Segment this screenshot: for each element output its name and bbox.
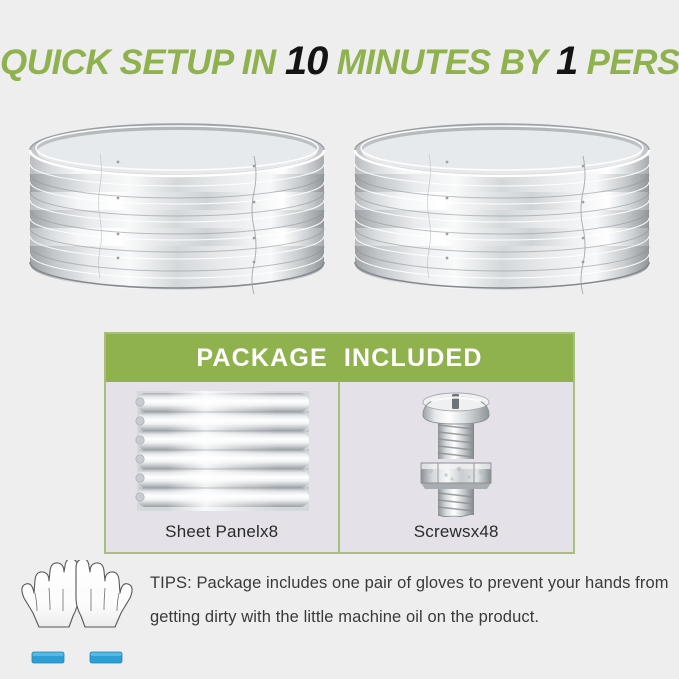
banner-word-included: INCLUDED (344, 344, 483, 373)
headline-part-3: PERSON (587, 43, 679, 82)
screw-image (340, 382, 574, 520)
sheet-panel-label: Sheet Panelx8 (165, 520, 278, 546)
raised-garden-bed-image-left (22, 112, 332, 312)
work-gloves-icon (14, 560, 140, 668)
package-included-box: PACKAGE INCLUDED (104, 332, 575, 554)
screw-with-nut-icon (401, 385, 511, 517)
headline-part-2: MINUTES BY (337, 43, 547, 82)
headline-number-person: 1 (556, 39, 577, 83)
package-included-banner: PACKAGE INCLUDED (106, 334, 573, 382)
hero-product-images (0, 112, 679, 322)
garden-bed-icon (22, 112, 332, 312)
banner-word-package: PACKAGE (196, 344, 328, 373)
garden-bed-icon (347, 112, 657, 312)
headline-part-1: QUICK SETUP IN (0, 43, 276, 82)
page-title: QUICK SETUP IN 10 MINUTES BY 1 PERSON (0, 38, 679, 86)
glove-left (22, 560, 78, 663)
screws-label: Screwsx48 (414, 520, 499, 546)
headline-number-minutes: 10 (285, 39, 328, 83)
raised-garden-bed-image-right (347, 112, 657, 312)
gloves-image (14, 560, 140, 668)
tips-text: TIPS: Package includes one pair of glove… (150, 566, 670, 634)
package-item-sheet-panel: Sheet Panelx8 (106, 382, 340, 552)
package-item-screws: Screwsx48 (340, 382, 574, 552)
glove-right (76, 560, 132, 663)
package-item-grid: Sheet Panelx8 (106, 382, 573, 552)
corrugated-panel-icon (127, 387, 317, 515)
sheet-panel-image (106, 382, 338, 520)
